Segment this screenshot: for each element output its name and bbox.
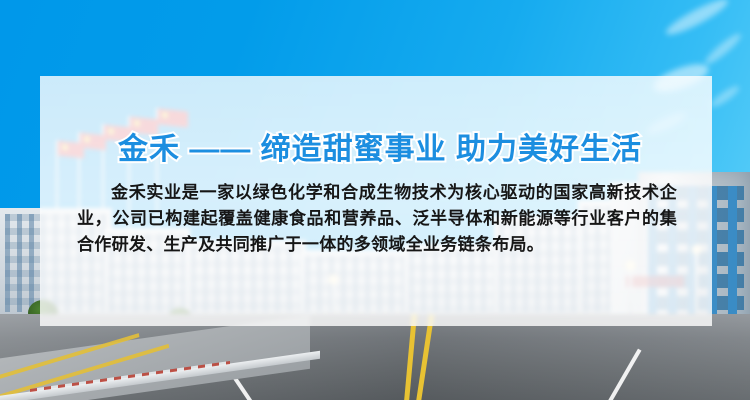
road-center-line bbox=[416, 315, 434, 400]
cloud-icon bbox=[702, 30, 744, 67]
banner-title: 金禾 —— 缔造甜蜜事业 助力美好生活 bbox=[118, 124, 642, 168]
text-overlay-card: 金禾 —— 缔造甜蜜事业 助力美好生活 金禾实业是一家以绿色化学和合成生物技术为… bbox=[40, 76, 712, 326]
banner-body-text: 金禾实业是一家以绿色化学和合成生物技术为核心驱动的国家高新技术企业，公司已构建起… bbox=[77, 180, 677, 258]
road-edge-line bbox=[606, 349, 641, 400]
cloud-icon bbox=[708, 83, 741, 110]
cloud-icon bbox=[663, 0, 731, 40]
promo-banner: 金禾 —— 缔造甜蜜事业 助力美好生活 金禾实业是一家以绿色化学和合成生物技术为… bbox=[0, 0, 750, 400]
road-center-line bbox=[404, 314, 417, 400]
